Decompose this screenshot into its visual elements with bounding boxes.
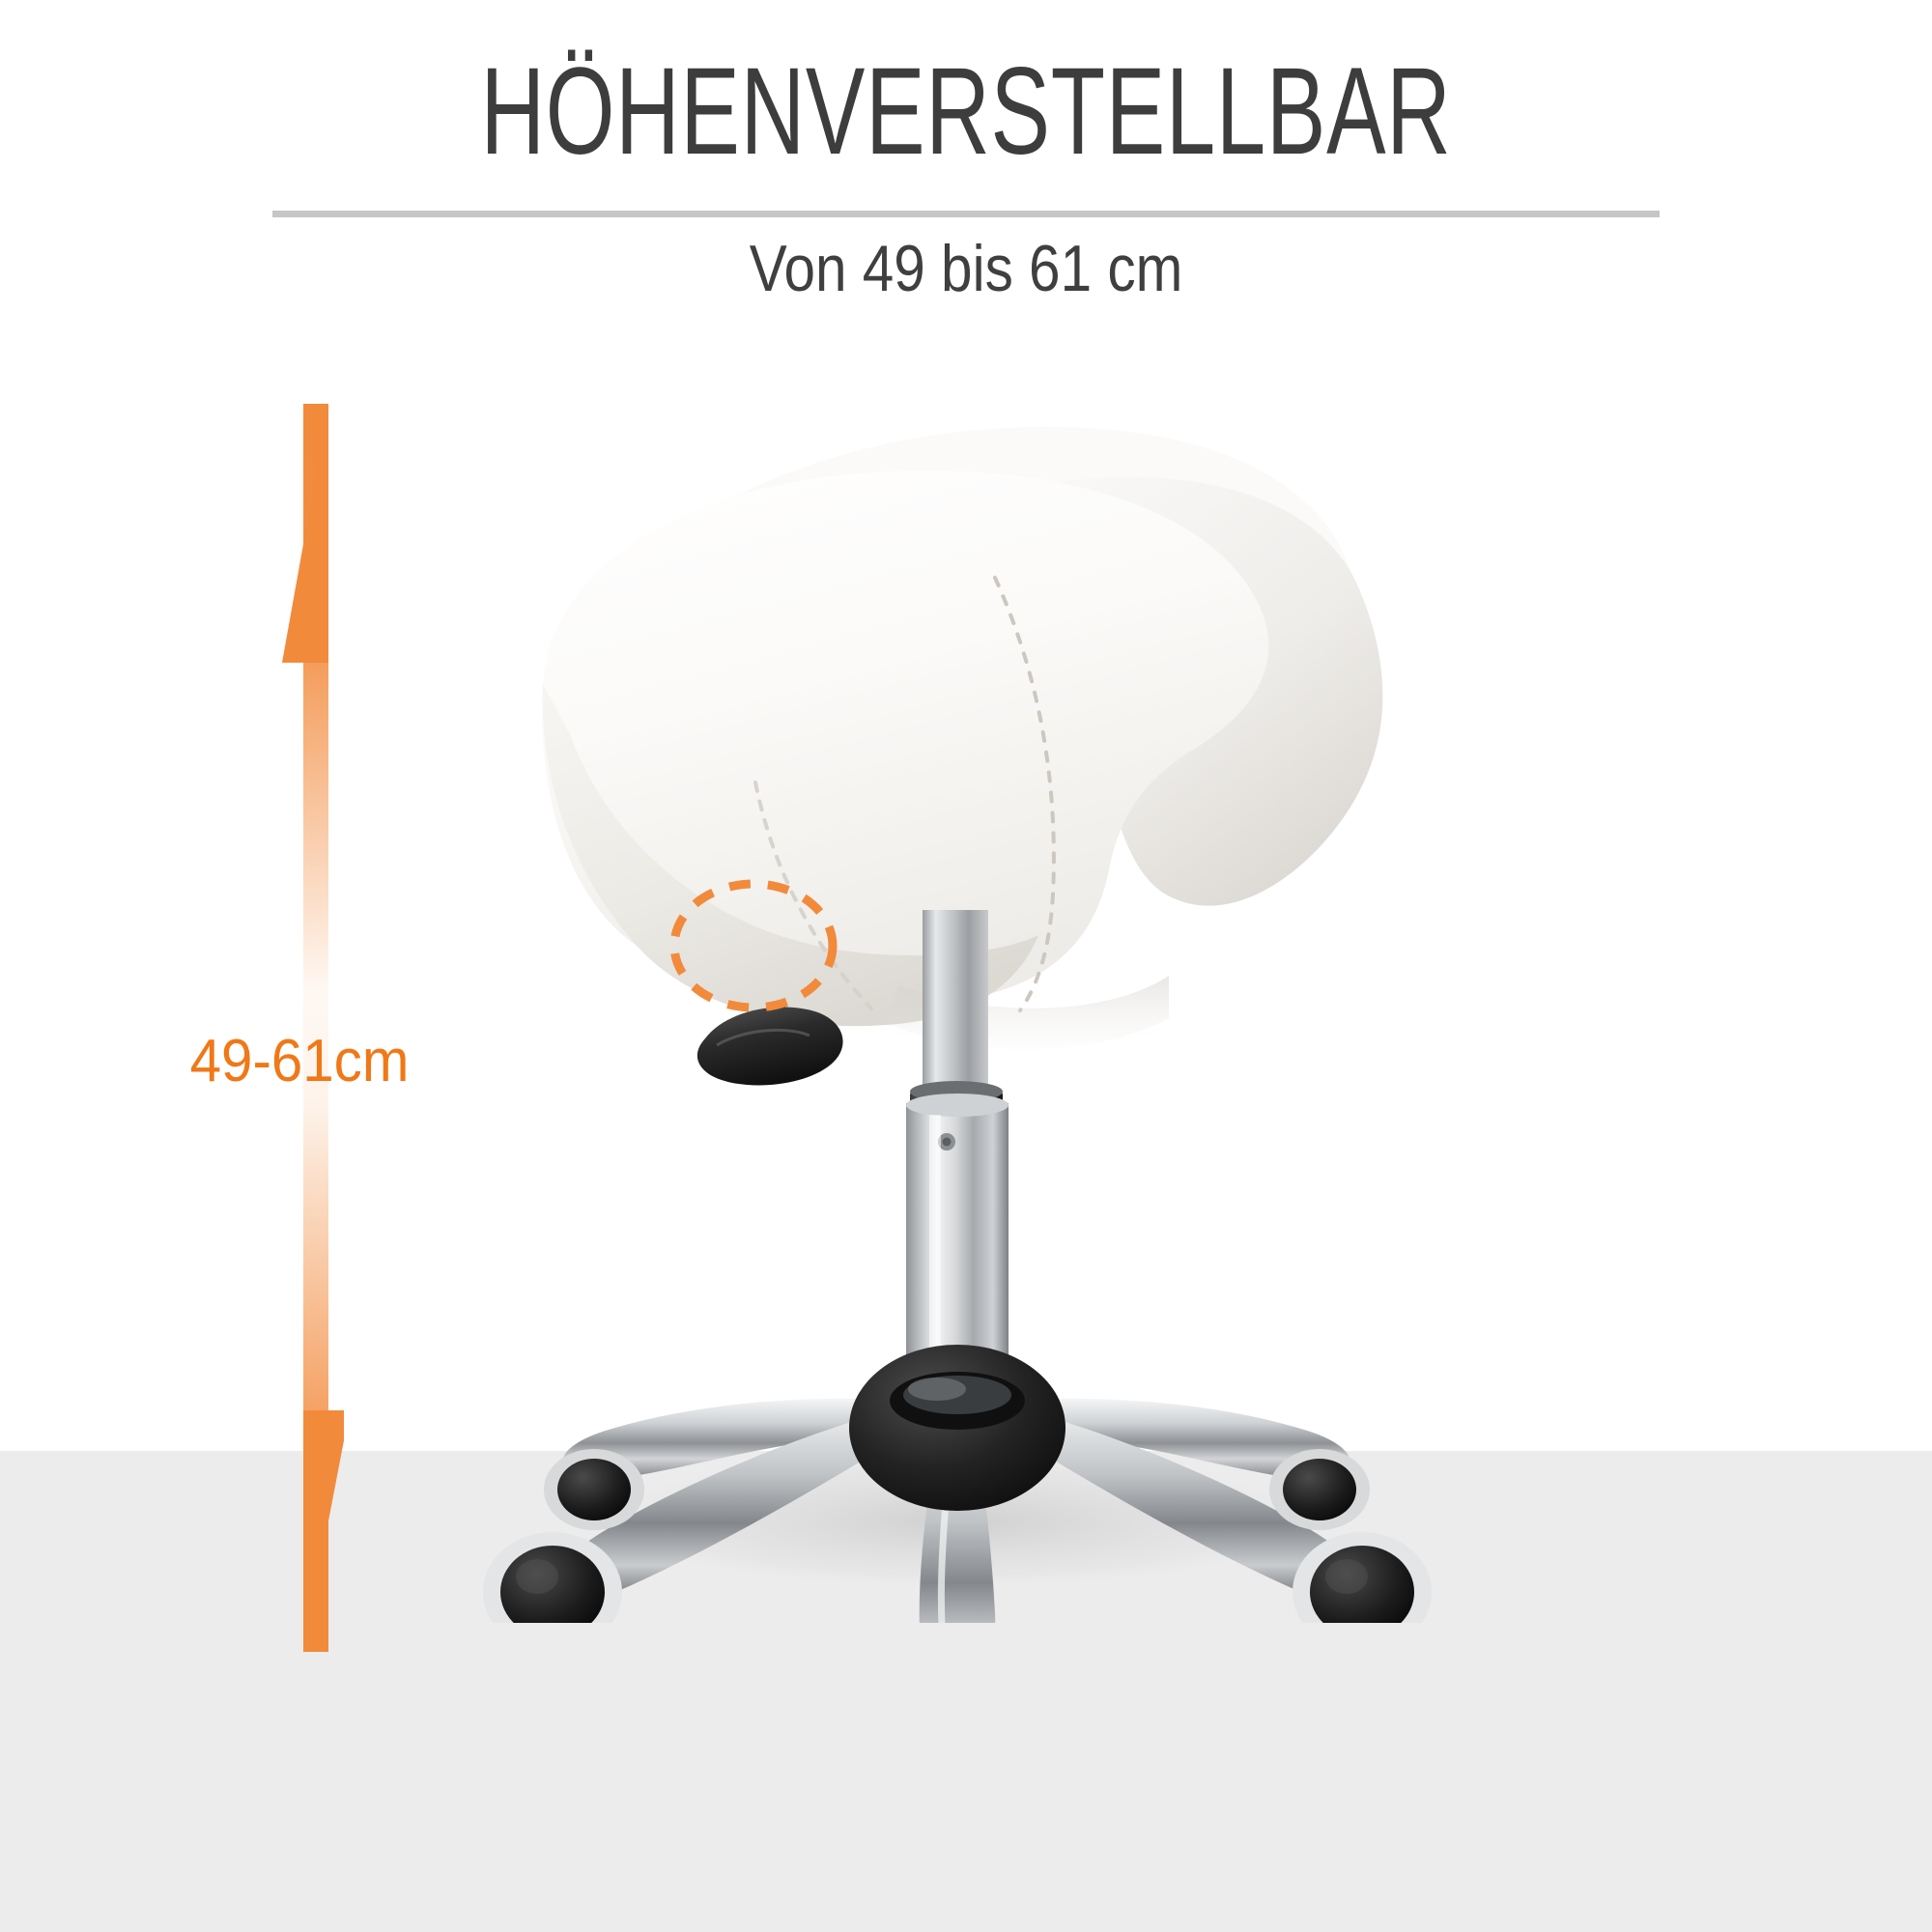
dashed-ellipse-highlight	[667, 877, 840, 1014]
product-image	[319, 319, 1594, 1623]
header-divider	[272, 211, 1660, 217]
caster-wheel	[544, 1449, 644, 1530]
infographic-canvas: HÖHENVERSTELLBAR Von 49 bis 61 cm	[0, 0, 1932, 1932]
height-adjust-lever	[697, 1008, 843, 1086]
caster-wheel	[1269, 1449, 1370, 1530]
saddle-stool-illustration	[319, 319, 1594, 1623]
page-subtitle: Von 49 bis 61 cm	[135, 236, 1797, 301]
page-title: HÖHENVERSTELLBAR	[270, 50, 1662, 174]
dimension-label: 49-61cm	[155, 1032, 445, 1092]
